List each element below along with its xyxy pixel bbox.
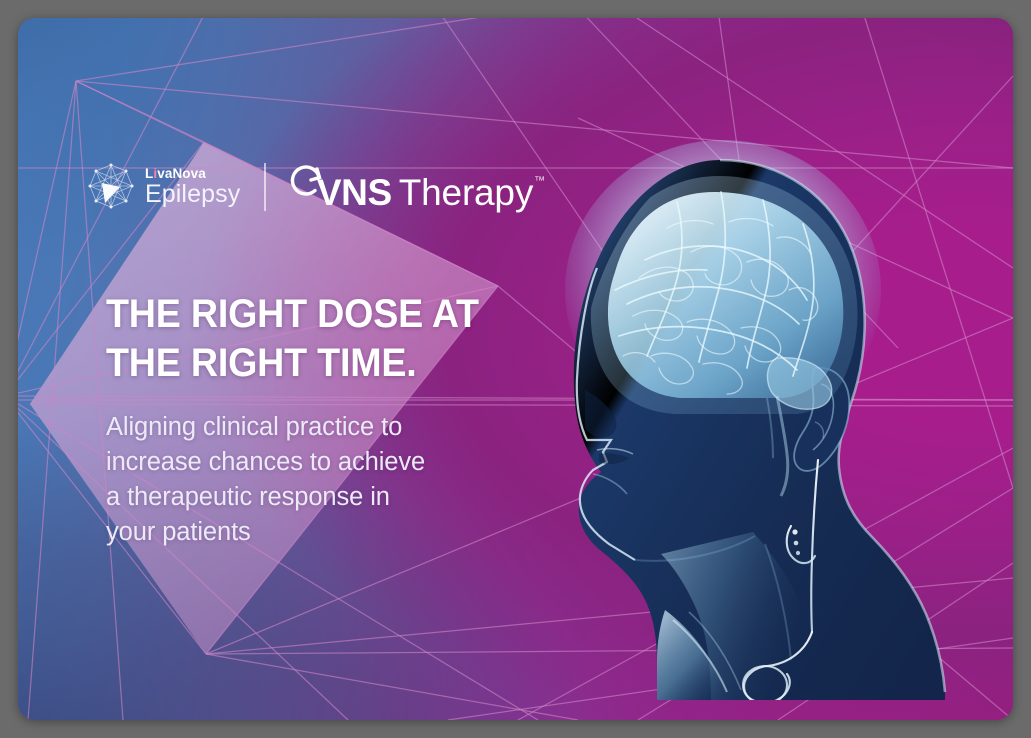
branding-lockup: LivaNova Epilepsy VNS Therapy ™ (86, 156, 545, 218)
brand-divider (264, 163, 266, 211)
slide-subheadline: Aligning clinical practice to increase c… (106, 410, 506, 550)
headline-line-2: THE RIGHT TIME. (106, 339, 510, 388)
headline-line-1: THE RIGHT DOSE AT (106, 290, 510, 339)
slide-headline: THE RIGHT DOSE AT THE RIGHT TIME. (106, 290, 510, 388)
livanova-wordmark: LivaNova Epilepsy (145, 167, 240, 207)
subheadline-line-2: increase chances to achieve (106, 445, 506, 480)
trademark-symbol: ™ (534, 176, 545, 187)
livanova-name-part-1: Liva (145, 166, 172, 181)
vns-therapy-logo[interactable]: VNS Therapy ™ (286, 163, 545, 211)
subheadline-line-1: Aligning clinical practice to (106, 410, 506, 445)
subheadline-line-4: your patients (106, 515, 506, 550)
livanova-name: LivaNova (145, 167, 240, 181)
livanova-name-part-2: Nova (172, 166, 205, 181)
vns-therapy-wordmark: VNS Therapy ™ (317, 174, 545, 211)
vns-therapy-patient-anatomy-illustration (515, 140, 1013, 700)
vns-acronym: VNS (317, 174, 392, 211)
livanova-logo[interactable]: LivaNova Epilepsy (86, 162, 240, 212)
therapy-word: Therapy (399, 174, 533, 211)
title-slide: LivaNova Epilepsy VNS Therapy ™ THE RIGH… (18, 18, 1013, 720)
livanova-octagon-logo-icon (86, 162, 136, 212)
subheadline-line-3: a therapeutic response in (106, 480, 506, 515)
livanova-product-line: Epilepsy (145, 182, 240, 207)
